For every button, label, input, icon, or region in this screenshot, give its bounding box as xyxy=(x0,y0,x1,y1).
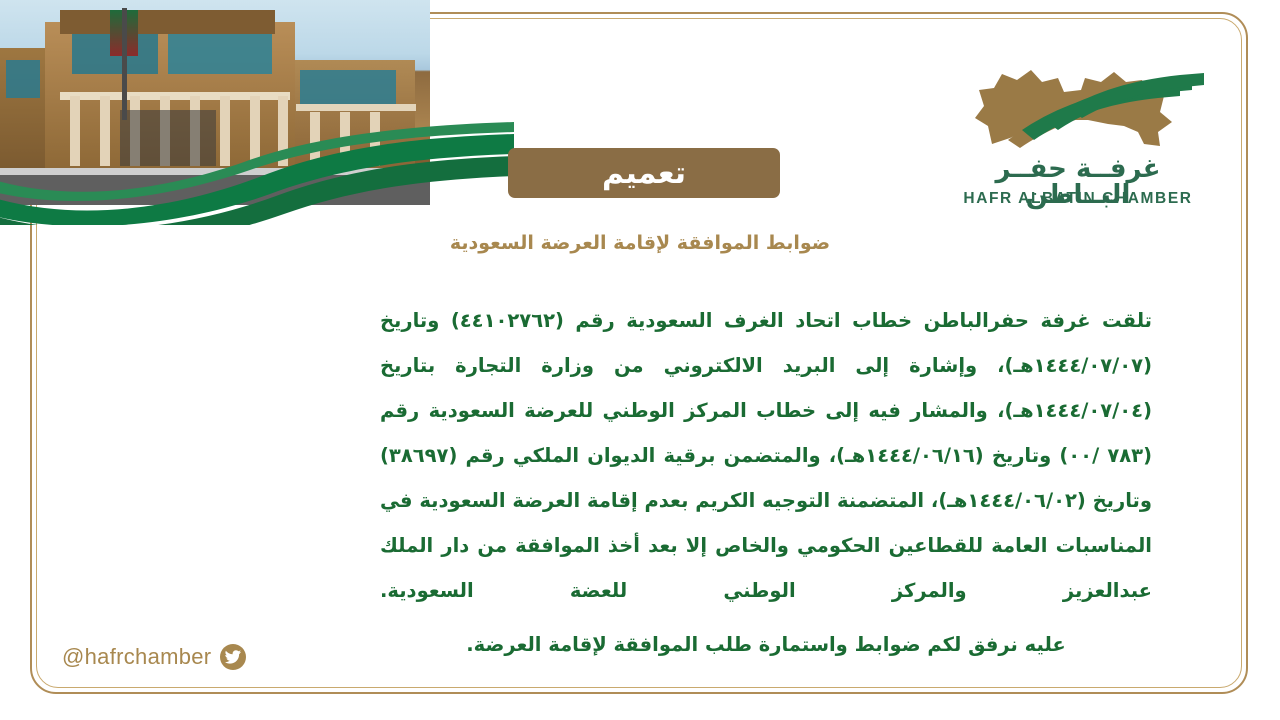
circular-title-text: تعميم xyxy=(602,156,686,191)
social-handle[interactable]: @hafrchamber xyxy=(62,644,246,670)
subtitle-heading: ضوابط الموافقة لإقامة العرضة السعودية xyxy=(0,232,1280,254)
chamber-logo: غرفــة حفــر البــاطن HAFR ALBATIN CHAMB… xyxy=(948,48,1210,208)
logo-mark-icon xyxy=(948,48,1210,158)
twitter-bird-icon[interactable] xyxy=(220,644,246,670)
circular-title-banner: تعميم xyxy=(508,148,780,198)
body-paragraph: تلقت غرفة حفرالباطن خطاب اتحاد الغرف الس… xyxy=(380,298,1152,613)
closing-paragraph: عليه نرفق لكم ضوابط واستمارة طلب الموافق… xyxy=(380,628,1152,662)
body-paragraph-text: تلقت غرفة حفرالباطن خطاب اتحاد الغرف الس… xyxy=(380,298,1152,613)
circular-poster: غرفــة حفــر البــاطن HAFR ALBATIN CHAMB… xyxy=(0,0,1280,720)
logo-english-text: HAFR ALBATIN CHAMBER xyxy=(950,190,1206,208)
green-swoosh-decoration xyxy=(0,120,514,225)
social-handle-text[interactable]: @hafrchamber xyxy=(62,644,211,670)
